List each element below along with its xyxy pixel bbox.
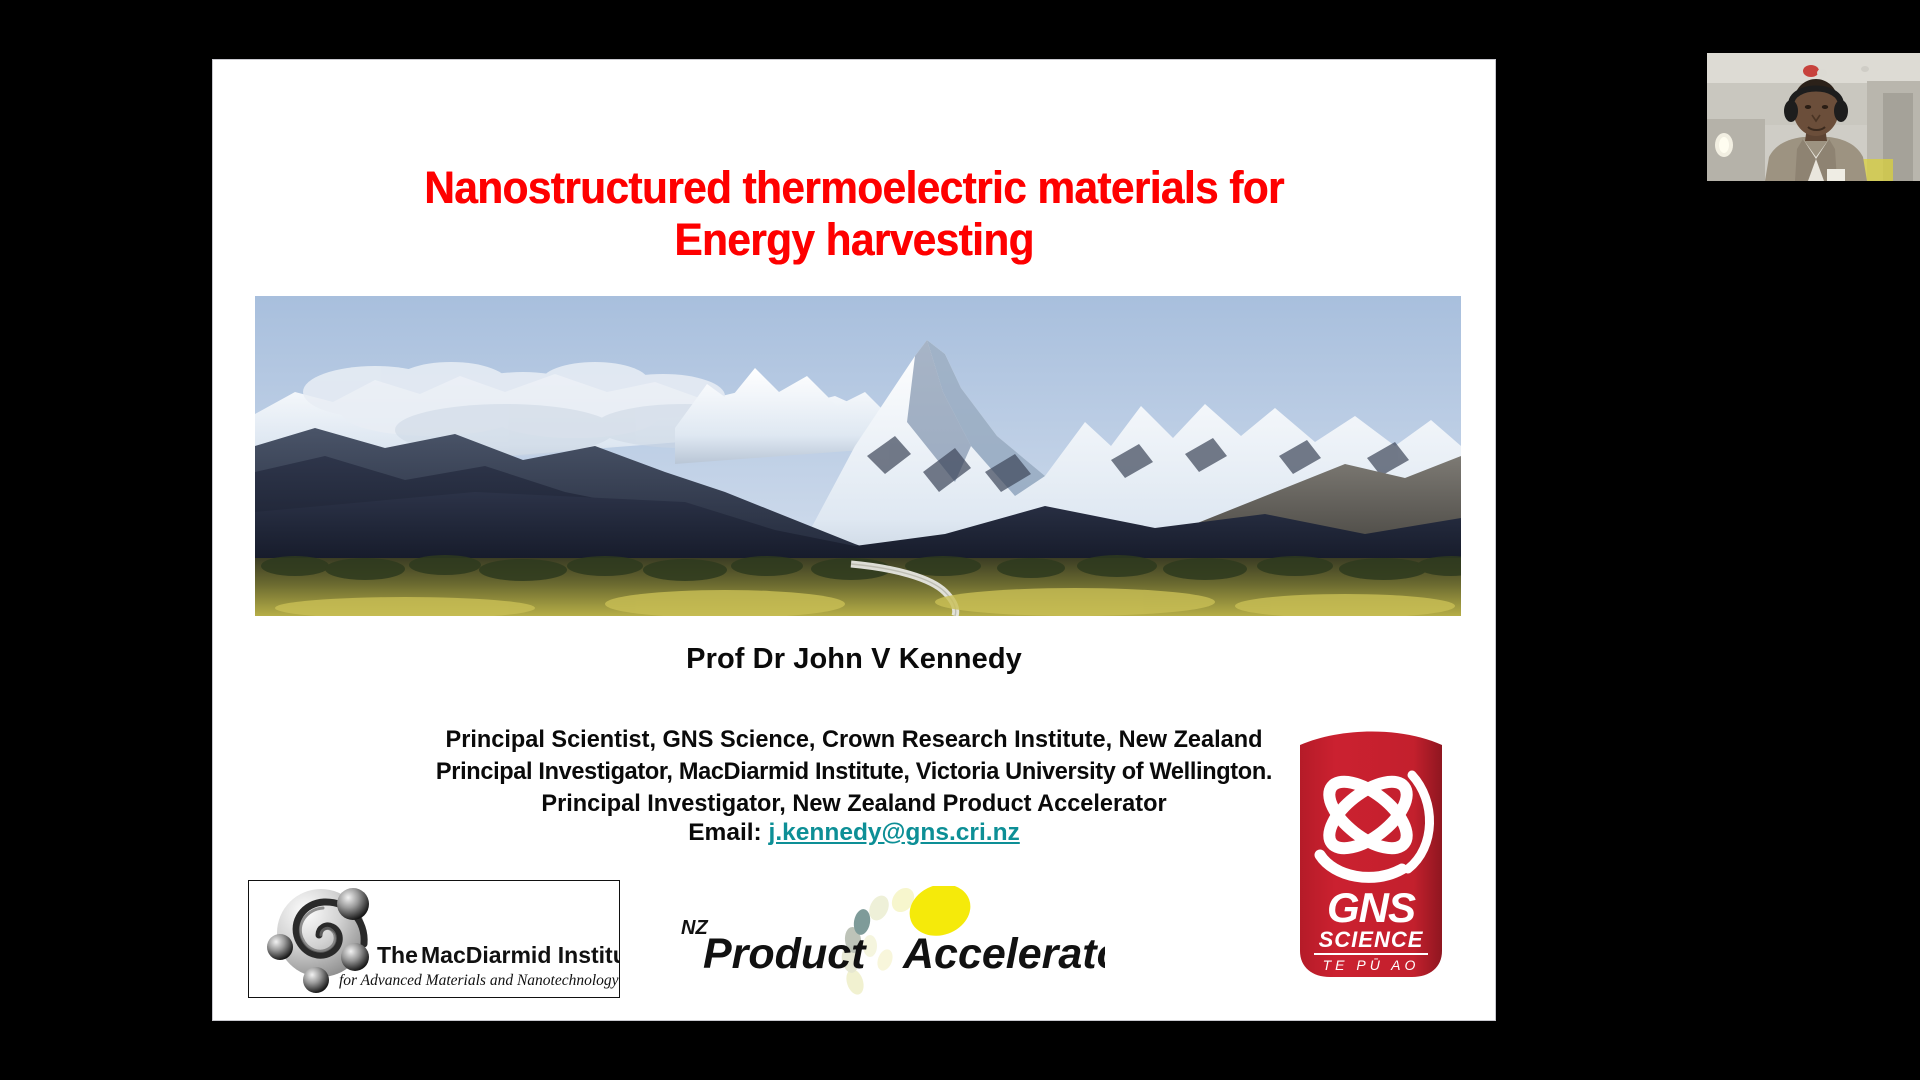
svg-text:for Advanced Materials and Nan: for Advanced Materials and Nanotechnolog… (339, 972, 619, 989)
affiliation-block: Principal Scientist, GNS Science, Crown … (239, 724, 1470, 820)
macdiarmid-logo-artwork: The MacDiarmid Institute for Advanced Ma… (249, 881, 619, 997)
affiliation-line-2: Principal Investigator, MacDiarmid Insti… (239, 756, 1470, 788)
slide-title-line-1: Nanostructured thermoelectric materials … (308, 162, 1400, 214)
slide-title-line-2: Energy harvesting (308, 214, 1400, 266)
affiliation-line-1: Principal Scientist, GNS Science, Crown … (239, 724, 1470, 756)
svg-text:GNS: GNS (1327, 884, 1416, 931)
mountain-landscape-photo (255, 296, 1461, 616)
svg-text:Accelerator: Accelerator (902, 930, 1105, 978)
screen-share-backdrop: Nanostructured thermoelectric materials … (0, 0, 1920, 1080)
svg-text:Product: Product (703, 930, 867, 978)
slide-title: Nanostructured thermoelectric materials … (251, 162, 1456, 266)
presenter-name: Prof Dr John V Kennedy (213, 643, 1495, 676)
affiliation-line-3: Principal Investigator, New Zealand Prod… (239, 788, 1470, 820)
landscape-illustration (255, 296, 1461, 616)
gns-logo-artwork: GNS SCIENCE TE PŪ AO (1290, 719, 1452, 981)
presentation-slide[interactable]: Nanostructured thermoelectric materials … (213, 60, 1495, 1020)
svg-text:MacDiarmid Institute: MacDiarmid Institute (421, 942, 619, 968)
macdiarmid-institute-logo: The MacDiarmid Institute for Advanced Ma… (248, 880, 620, 998)
svg-text:The: The (377, 942, 418, 968)
email-address-link[interactable]: j.kennedy@gns.cri.nz (769, 819, 1020, 846)
npa-logo-artwork: NZ Product Accelerator (645, 886, 1105, 996)
svg-text:TE PŪ AO: TE PŪ AO (1323, 957, 1420, 973)
webcam-frame (1707, 53, 1920, 181)
nz-product-accelerator-logo: NZ Product Accelerator (645, 886, 1105, 996)
gns-science-logo: GNS SCIENCE TE PŪ AO (1290, 719, 1452, 981)
svg-text:SCIENCE: SCIENCE (1319, 927, 1424, 952)
email-label: Email: (688, 819, 762, 846)
participant-video-thumbnail[interactable] (1707, 53, 1920, 181)
